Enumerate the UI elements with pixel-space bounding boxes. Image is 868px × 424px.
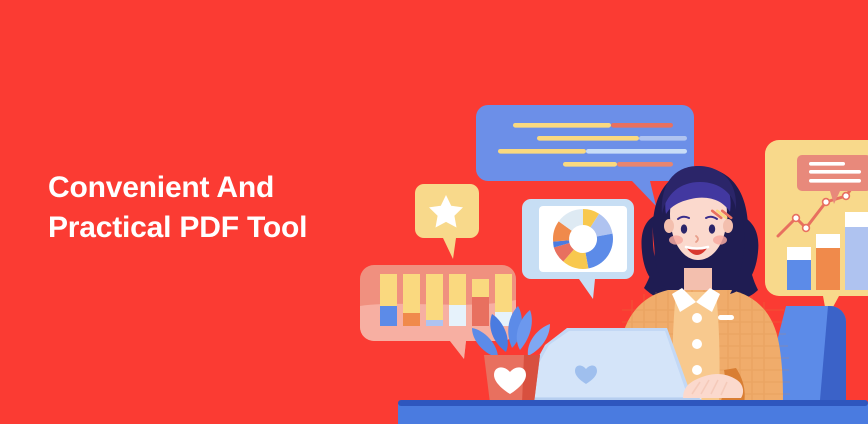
chat-line-3-right <box>586 149 687 154</box>
jacket-pocket <box>718 315 734 320</box>
donut-chart-bubble <box>522 199 634 299</box>
chat-line-4-right <box>617 162 673 167</box>
eye <box>709 224 715 233</box>
chat-line-1-left <box>513 123 611 128</box>
desk <box>398 400 868 424</box>
chat-line-3-left <box>498 149 586 154</box>
chat-line-2-right <box>639 136 687 141</box>
chat-bubble-text <box>476 105 694 206</box>
jacket-button <box>692 365 702 375</box>
chat-line-1-right <box>611 123 673 128</box>
hero-illustration <box>0 0 868 424</box>
eye <box>681 224 687 233</box>
star-badge <box>415 184 479 259</box>
promo-banner: Convenient And Practical PDF Tool <box>0 0 868 424</box>
jacket-button <box>692 339 702 349</box>
jacket-button <box>692 313 702 323</box>
illustration-svg <box>0 0 868 424</box>
chat-line-4-left <box>563 162 617 167</box>
growth-panel <box>765 140 868 318</box>
chat-line-2-left <box>537 136 639 141</box>
